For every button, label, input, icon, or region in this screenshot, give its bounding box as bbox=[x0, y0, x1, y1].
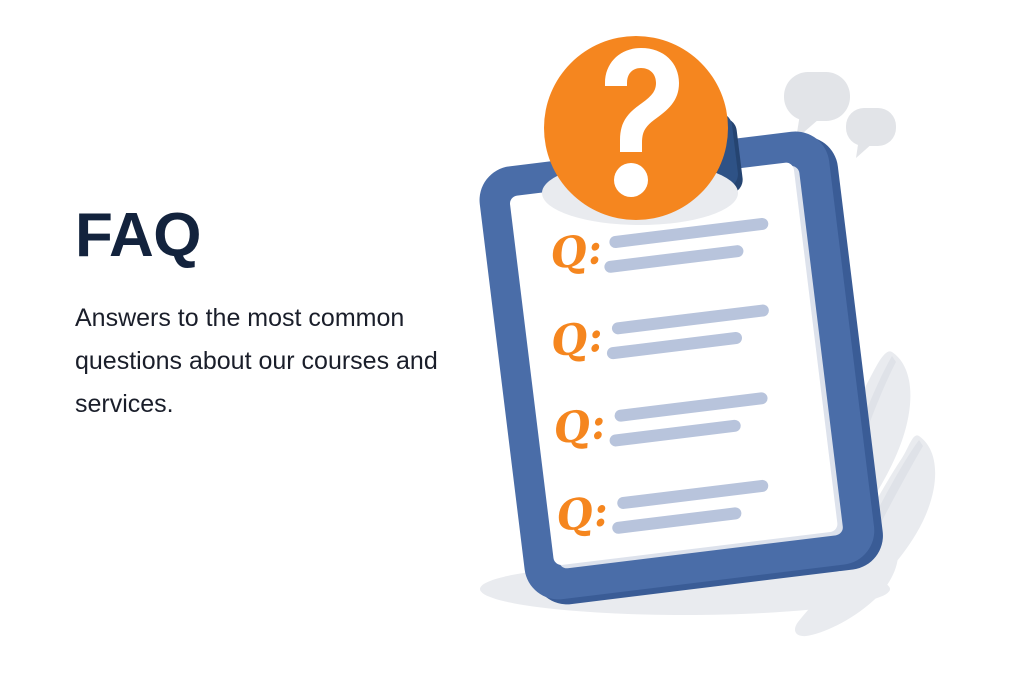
q-label: Q: bbox=[547, 224, 605, 279]
question-mark-badge bbox=[544, 36, 728, 220]
faq-hero-banner: FAQ Answers to the most common questions… bbox=[0, 0, 1024, 683]
page-title: FAQ bbox=[75, 205, 475, 267]
hero-text-block: FAQ Answers to the most common questions… bbox=[75, 205, 475, 426]
speech-bubble-large bbox=[784, 72, 850, 139]
q-label: Q: bbox=[551, 399, 609, 454]
q-label: Q: bbox=[553, 486, 611, 541]
faq-clipboard-illustration: Q: Q: Q: Q: bbox=[440, 0, 1024, 683]
q-label: Q: bbox=[548, 311, 606, 366]
question-mark-dot bbox=[614, 163, 648, 197]
page-subtitle: Answers to the most common questions abo… bbox=[75, 267, 470, 426]
speech-bubble-small bbox=[846, 108, 896, 158]
